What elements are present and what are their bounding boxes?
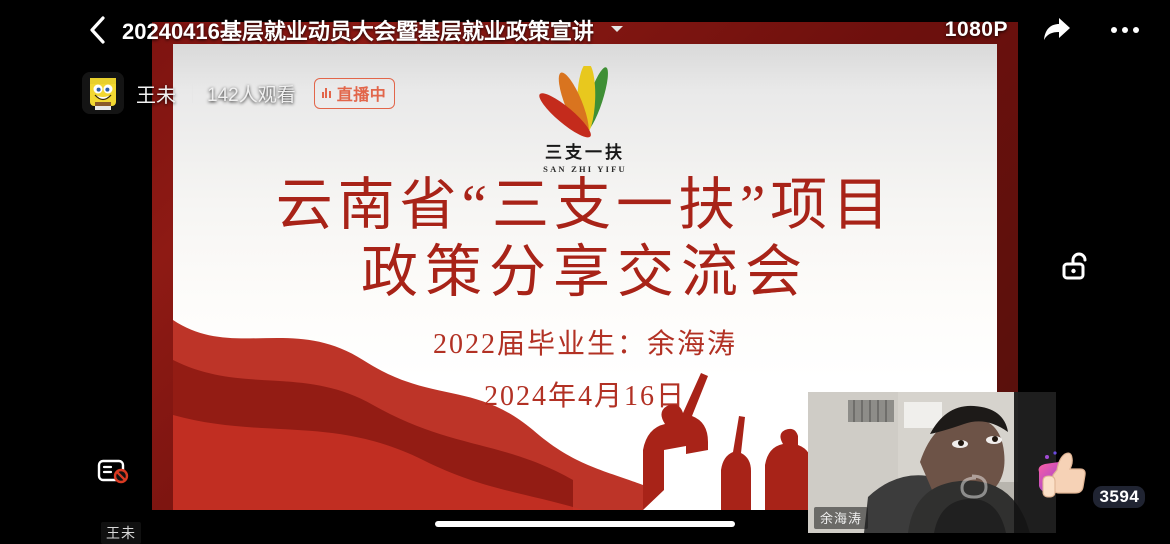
host-name: 王未 [136, 79, 176, 108]
audio-bars-icon [322, 87, 331, 98]
pip-presenter-name: 余海涛 [814, 507, 868, 529]
more-dot-3 [1133, 27, 1139, 33]
like-count: 3594 [1093, 486, 1145, 508]
more-dot-1 [1111, 27, 1117, 33]
presenter-info-row: 王未 142人观看 直播中 [82, 70, 395, 116]
viewer-count: 142人观看 [207, 80, 296, 107]
thumbs-up-icon [1033, 448, 1089, 502]
presenter-camera-pip[interactable]: 余海涛 [808, 392, 1056, 533]
chevron-left-icon [87, 15, 107, 45]
live-badge-label: 直播中 [337, 81, 387, 105]
screen-lock-button[interactable] [1054, 245, 1098, 289]
more-dot-2 [1122, 27, 1128, 33]
back-button[interactable] [82, 13, 112, 47]
title-dropdown-button[interactable] [610, 21, 624, 39]
spongebob-avatar-icon [82, 72, 124, 114]
logo-cn-text: 三支一扶 [173, 138, 997, 163]
headline-line-2: 政策分享交流会 [173, 239, 997, 306]
headline-line-1: 云南省“三支一扶”项目 [173, 172, 997, 239]
live-stream-screen: 三支一扶 SAN ZHI YIFU 云南省“三支一扶”项目 政策分享交流会 20… [0, 0, 1170, 541]
quality-button[interactable]: 1080P [945, 18, 1008, 42]
chevron-down-icon [610, 24, 624, 34]
info-divider [192, 83, 193, 103]
slide-headline: 云南省“三支一扶”项目 政策分享交流会 [173, 172, 997, 307]
stream-title: 20240416基层就业动员大会暨基层就业政策宣讲 [122, 14, 594, 46]
comments-disabled-button[interactable] [95, 455, 133, 489]
status-badge: 直播中 [314, 78, 396, 109]
like-indicator[interactable]: 3594 [1033, 448, 1145, 508]
unlock-icon [1061, 251, 1091, 283]
share-button[interactable] [1040, 13, 1074, 47]
more-options-button[interactable] [1108, 20, 1142, 40]
avatar[interactable] [82, 72, 124, 114]
home-indicator[interactable] [435, 521, 735, 527]
san-zhi-yi-fu-logo-icon [525, 66, 645, 142]
share-arrow-icon [1042, 16, 1072, 44]
comments-disabled-icon [97, 457, 131, 487]
